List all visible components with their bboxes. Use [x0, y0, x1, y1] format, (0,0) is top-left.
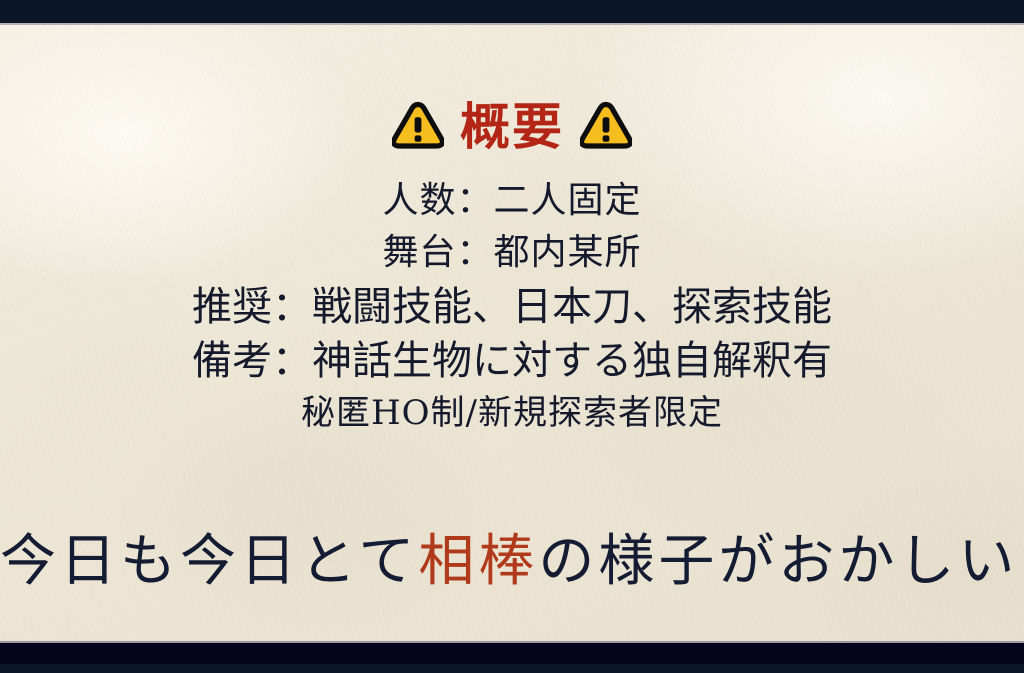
letterbox-bar-bottom-lower	[0, 664, 1024, 673]
letterbox-rule-top	[0, 23, 1024, 25]
info-line-recommended-skills: 推奨：戦闘技能、日本刀、探索技能	[0, 287, 1024, 327]
tagline-accent: 相棒	[418, 529, 538, 594]
section-title-row: 概要	[0, 101, 1024, 152]
slide-canvas: 概要 人数：二人固定 舞台：都内某所 推奨：戦闘技能、日本刀、探索技能 備考：神…	[0, 0, 1024, 673]
info-line-player-count: 人数：二人固定	[0, 183, 1024, 219]
note-line: 秘匿HO制/新規探索者限定	[0, 396, 1024, 430]
info-line-remarks: 備考：神話生物に対する独自解釈有	[0, 341, 1024, 381]
info-line-setting: 舞台：都内某所	[0, 235, 1024, 271]
page-title: 概要	[460, 102, 564, 152]
warning-triangle-icon	[580, 101, 632, 152]
letterbox-bar-top	[0, 0, 1024, 23]
scenario-info-list: 人数：二人固定 舞台：都内某所 推奨：戦闘技能、日本刀、探索技能 備考：神話生物…	[0, 183, 1024, 395]
warning-triangle-icon	[392, 101, 444, 152]
tagline-suffix: の様子がおかしい！	[538, 529, 1024, 594]
slide-content: 概要 人数：二人固定 舞台：都内某所 推奨：戦闘技能、日本刀、探索技能 備考：神…	[0, 25, 1024, 641]
tagline: 今日も今日とて相棒の様子がおかしい！	[0, 530, 1024, 594]
tagline-prefix: 今日も今日とて	[0, 529, 418, 594]
